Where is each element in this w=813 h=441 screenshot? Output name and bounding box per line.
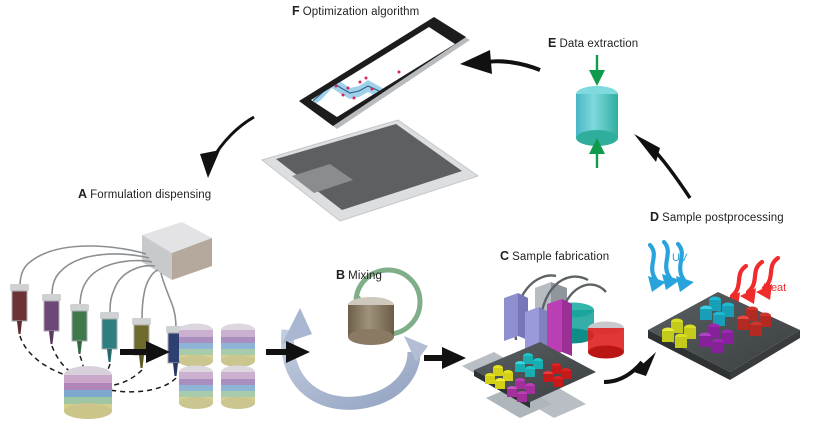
step-label-b: BMixing [336, 269, 382, 283]
arrow-extraction-to-optimization-head [460, 50, 492, 74]
syringe [42, 294, 61, 344]
vial [221, 324, 255, 368]
vial [221, 366, 255, 410]
mixing-loop-arrow [287, 330, 414, 403]
formulated-vials [179, 324, 255, 410]
step-text-b: Mixing [348, 270, 382, 282]
step-label-a: AFormulation dispensing [78, 188, 211, 202]
arrow-extraction-to-optimization [488, 61, 540, 70]
syringe [70, 304, 89, 354]
reservoir-red [588, 322, 624, 359]
step-text-a: Formulation dispensing [90, 189, 211, 201]
syringe-array [10, 284, 185, 376]
step-text-f: Optimization algorithm [303, 6, 420, 18]
sample-postprocessing-illustration [648, 242, 800, 380]
figure-canvas: FOptimization algorithm EData extraction… [0, 0, 813, 441]
vial [179, 366, 213, 410]
step-label-e: EData extraction [548, 37, 638, 51]
nozzle-magenta-side [562, 299, 572, 356]
mixing-loop-arrowhead [282, 308, 312, 344]
laptop-keyboard [276, 124, 462, 210]
data-extraction-illustration [576, 55, 618, 168]
laptop-screen [311, 27, 455, 117]
mixing-vial-bottom [348, 329, 394, 345]
syringe [100, 312, 119, 362]
step-letter-b: B [336, 268, 345, 282]
step-letter-f: F [292, 4, 300, 18]
sample-fabrication-illustration [462, 276, 624, 418]
step-text-e: Data extraction [559, 38, 638, 50]
step-letter-d: D [650, 210, 659, 224]
target-vial [64, 366, 112, 419]
arrow-formulation-to-mixing-head [146, 341, 170, 363]
vial [179, 324, 213, 368]
arrow-fabrication-to-postprocessing-head [634, 352, 656, 376]
mixing-illustration [282, 270, 428, 403]
laptop-illustration [262, 17, 478, 221]
syringe [10, 284, 29, 334]
step-label-d: DSample postprocessing [650, 211, 784, 225]
step-label-f: FOptimization algorithm [292, 5, 419, 19]
step-letter-a: A [78, 187, 87, 201]
arrow-postprocessing-to-extraction-head [634, 134, 660, 162]
step-text-c: Sample fabrication [512, 251, 609, 263]
formulation-dispensing-illustration [10, 222, 255, 419]
step-text-d: Sample postprocessing [662, 212, 784, 224]
step-letter-c: C [500, 249, 509, 263]
heat-annotation: Heat [763, 282, 786, 294]
arrow-vials-to-mixing-head [286, 341, 310, 363]
compression-arrow-top-head [589, 70, 605, 86]
step-label-c: CSample fabrication [500, 250, 609, 264]
arrow-optimization-to-formulation-head [200, 150, 220, 178]
uv-annotation: UV [672, 252, 687, 264]
arrow-mixing-to-fabrication-head [442, 347, 466, 369]
step-letter-e: E [548, 36, 556, 50]
nozzle-violet [504, 293, 518, 341]
